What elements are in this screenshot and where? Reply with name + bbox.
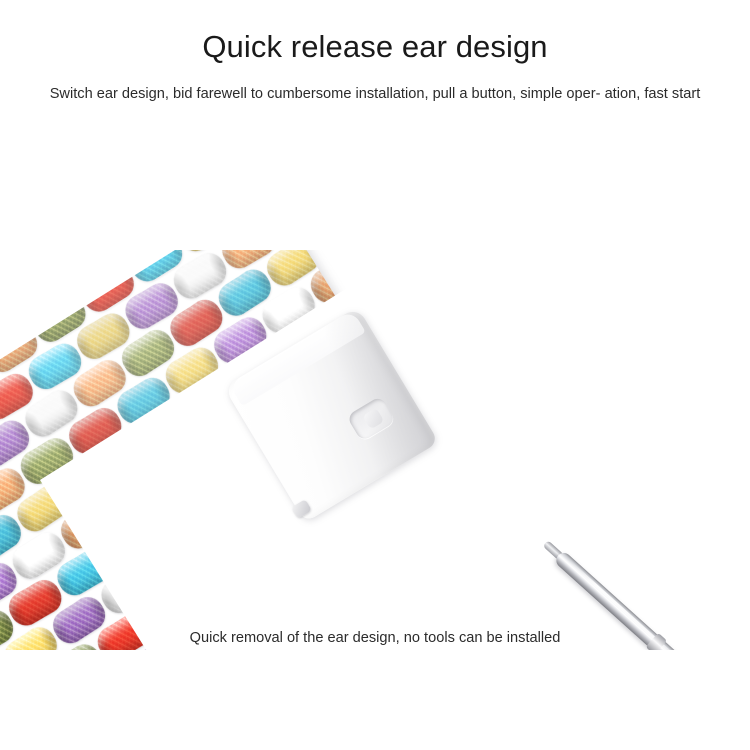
subtitle-line-2: ation, fast start: [605, 86, 701, 102]
product-photo: [0, 150, 750, 650]
photo-caption: Quick removal of the ear design, no tool…: [0, 627, 750, 649]
page-title: Quick release ear design: [0, 28, 750, 66]
page-subtitle: Switch ear design, bid farewell to cumbe…: [28, 82, 722, 106]
product-marketing-image: Quick release ear design Switch ear desi…: [0, 0, 750, 750]
subtitle-line-1: Switch ear design, bid farewell to cumbe…: [50, 86, 601, 102]
